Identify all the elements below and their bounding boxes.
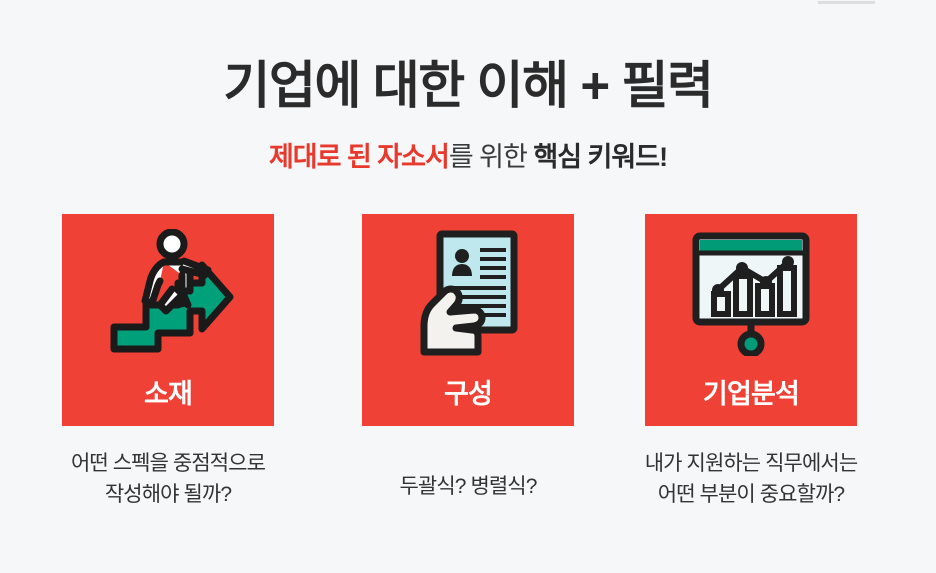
page-title: 기업에 대한 이해 + 필력 (0, 56, 936, 116)
keyword-caption-sojae: 어떤 스펙을 중점적으로 작성해야 될까? (18, 448, 318, 510)
caption-line: 어떤 스펙을 중점적으로 (18, 448, 318, 479)
caption-line: 어떤 부분이 중요할까? (601, 479, 901, 510)
caption-line: 작성해야 될까? (18, 479, 318, 510)
slide-canvas: 기업에 대한 이해 + 필력 제대로 된 자소서를 위한 핵심 키워드! (0, 0, 936, 573)
hand-holding-resume-icon (362, 228, 574, 358)
keyword-caption-gieopbunseok: 내가 지원하는 직무에서는 어떤 부분이 중요할까? (601, 448, 901, 510)
subtitle-accent: 제대로 된 자소서 (269, 142, 449, 172)
keyword-card-gieopbunseok[interactable]: 기업분석 (645, 214, 857, 426)
caption-line: 내가 지원하는 직무에서는 (601, 448, 901, 479)
keyword-card-row: 소재 (0, 214, 936, 426)
top-edge-artifact (818, 1, 875, 4)
page-subtitle: 제대로 된 자소서를 위한 핵심 키워드! (0, 139, 936, 175)
subtitle-mid: 를 위한 (449, 142, 534, 172)
keyword-card-label: 구성 (362, 378, 574, 410)
keyword-card-label: 소재 (62, 378, 274, 410)
presentation-chart-icon (645, 228, 857, 358)
keyword-card-sojae[interactable]: 소재 (62, 214, 274, 426)
stairs-climb-icon (62, 228, 274, 358)
keyword-card-guseong[interactable]: 구성 (362, 214, 574, 426)
subtitle-strong: 핵심 키워드 (533, 142, 659, 172)
keyword-caption-guseong: 두괄식? 병렬식? (318, 471, 618, 502)
caption-line: 두괄식? 병렬식? (318, 471, 618, 502)
subtitle-exclamation: ! (659, 142, 667, 172)
keyword-card-label: 기업분석 (645, 378, 857, 410)
